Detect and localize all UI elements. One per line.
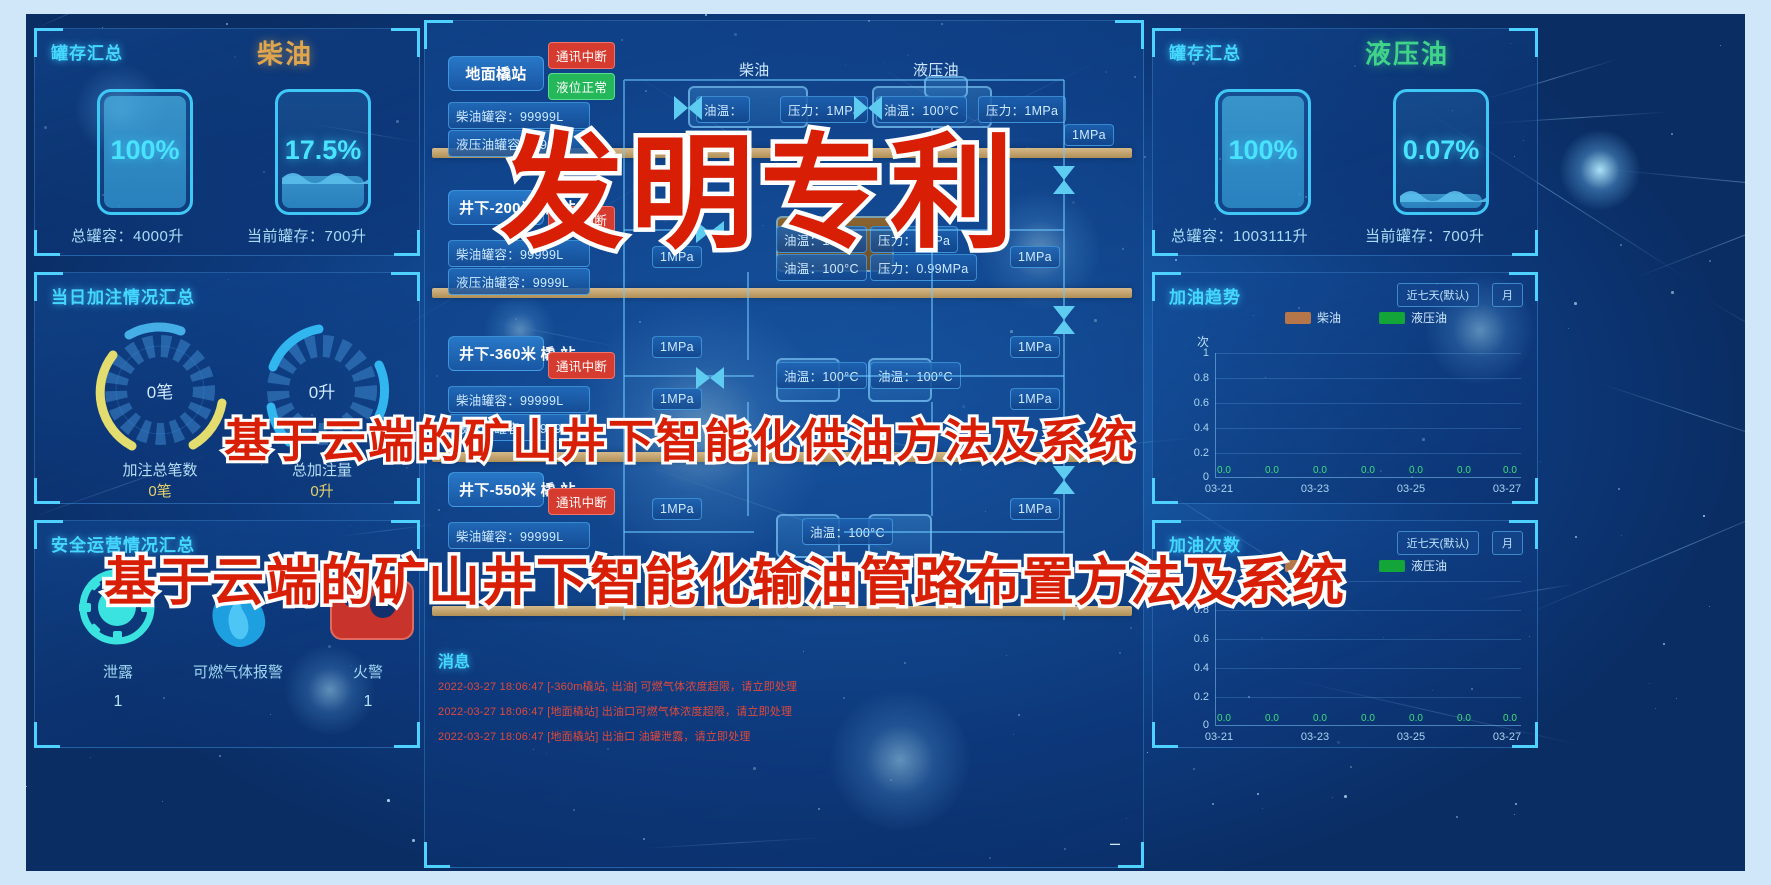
dashboard-screen: 罐存汇总 柴油 100% 17.5% 总罐容：4000升 当前罐存：700升 当… <box>0 0 1771 885</box>
range-button-week-count[interactable]: 近七天(默认) <box>1397 531 1479 555</box>
safety-label-2: 火警 <box>303 661 433 682</box>
chart-ytick-trend-5: 0 <box>1179 471 1209 483</box>
tank-pct-total-hydraulic: 100% <box>1218 135 1308 166</box>
chart-gridline-trend-0 <box>1215 353 1521 354</box>
watermark-line-1: 基于云端的矿山井下智能化供油方法及系统 <box>224 405 1136 471</box>
watermark-patent-title: 发明专利 <box>500 92 1020 272</box>
chart-gridline-trend-4 <box>1215 453 1521 454</box>
oil-type-label-hydraulic: 液压油 <box>1365 34 1449 71</box>
chart-xtick-count-0: 03-21 <box>1197 731 1241 743</box>
tank-current-stock-hydraulic: 当前罐存：700升 <box>1365 225 1485 246</box>
collapse-button[interactable]: – <box>1104 836 1126 854</box>
safety-value-0: 1 <box>53 693 183 711</box>
tank-pct-current-diesel: 17.5% <box>278 135 368 166</box>
chart-xtick-trend-0: 03-21 <box>1197 483 1241 495</box>
chart-datalabel-trend-2: 0.0 <box>1307 465 1333 476</box>
chart-xtick-trend-3: 03-27 <box>1485 483 1529 495</box>
chart-gridline-trend-3 <box>1215 428 1521 429</box>
legend-diesel-trend[interactable]: 柴油 <box>1285 309 1341 326</box>
chart-xaxis-trend <box>1215 477 1521 478</box>
gauge-refuel-count: 0笔 <box>85 315 235 465</box>
bezel-right <box>1745 0 1771 885</box>
chart-xaxis-count <box>1215 725 1521 726</box>
chart-ytick-trend-0: 1 <box>1179 347 1209 359</box>
gauge-refuel-volume-caption-number: 0升 <box>237 480 407 501</box>
panel-refuel-trend-chart: 加油趋势 近七天(默认) 月 柴油 液压油 次 1 0.8 0.6 0.4 0.… <box>1152 272 1538 504</box>
legend-label-hydraulic-trend: 液压油 <box>1411 311 1447 325</box>
tank-total-capacity-hydraulic: 总罐容：1003111升 <box>1171 225 1308 246</box>
bezel-top <box>0 0 1771 14</box>
gauge-refuel-count-value: 0笔 <box>85 378 235 403</box>
chart-ytick-trend-2: 0.6 <box>1179 397 1209 409</box>
bezel-left <box>0 0 26 885</box>
chart-datalabel-trend-1: 0.0 <box>1259 465 1285 476</box>
chart-gridline-count-2 <box>1215 639 1521 640</box>
chart-gridline-trend-2 <box>1215 403 1521 404</box>
chart-ytick-trend-3: 0.4 <box>1179 422 1209 434</box>
chart-yaxis-trend <box>1215 353 1216 477</box>
chart-datalabel-count-3: 0.0 <box>1355 713 1381 724</box>
chart-datalabel-count-6: 0.0 <box>1497 713 1523 724</box>
panel-title-hydraulic-summary: 罐存汇总 <box>1169 39 1241 64</box>
tank-gauge-current-diesel: 17.5% <box>275 89 371 215</box>
oil-type-label-diesel: 柴油 <box>257 34 313 71</box>
tank-total-capacity-diesel: 总罐容：4000升 <box>71 225 184 246</box>
bezel-bottom <box>0 871 1771 885</box>
range-button-week-trend[interactable]: 近七天(默认) <box>1397 283 1479 307</box>
gauge-refuel-count-caption: 加注总笔数 0笔 <box>75 459 245 501</box>
watermark-line-2: 基于云端的矿山井下智能化输油管路布置方法及系统 <box>104 540 1346 615</box>
chart-xtick-count-3: 03-27 <box>1485 731 1529 743</box>
chart-ytick-count-2: 0.6 <box>1179 633 1209 645</box>
legend-hydraulic-trend[interactable]: 液压油 <box>1379 309 1447 326</box>
legend-hydraulic-count[interactable]: 液压油 <box>1379 557 1447 574</box>
tank-gauge-total-hydraulic: 100% <box>1215 89 1311 215</box>
safety-label-1: 可燃气体报警 <box>173 661 303 682</box>
panel-diesel-tank-summary: 罐存汇总 柴油 100% 17.5% 总罐容：4000升 当前罐存：700升 <box>34 28 420 256</box>
tank-pct-current-hydraulic: 0.07% <box>1396 135 1486 166</box>
safety-value-2: 1 <box>303 693 433 711</box>
chart-datalabel-count-0: 0.0 <box>1211 713 1237 724</box>
tank-current-stock-diesel: 当前罐存：700升 <box>247 225 367 246</box>
gauge-refuel-count-caption-number: 0笔 <box>75 480 245 501</box>
panel-title-diesel-summary: 罐存汇总 <box>51 39 123 64</box>
chart-xtick-trend-1: 03-23 <box>1293 483 1337 495</box>
chart-datalabel-count-4: 0.0 <box>1403 713 1429 724</box>
tank-pct-total-diesel: 100% <box>100 135 190 166</box>
chart-gridline-count-4 <box>1215 697 1521 698</box>
chart-ytick-count-4: 0.2 <box>1179 691 1209 703</box>
chart-gridline-count-3 <box>1215 668 1521 669</box>
gauge-refuel-volume-value: 0升 <box>247 378 397 403</box>
message-log-line-1: 2022-03-27 18:06:47 [地面橇站] 出油口可燃气体浓度超限，请… <box>438 703 792 719</box>
message-log-line-2: 2022-03-27 18:06:47 [地面橇站] 出油口 油罐泄露，请立即处… <box>438 728 751 744</box>
panel-hydraulic-tank-summary: 罐存汇总 液压油 100% 0.07% 总罐容：1003111升 当前罐存：70… <box>1152 28 1538 256</box>
tank-wave-diesel <box>282 168 370 184</box>
message-log-panel: 消息 2022-03-27 18:06:47 [-360m橇站, 出油] 可燃气… <box>424 638 1144 868</box>
chart-datalabel-trend-6: 0.0 <box>1497 465 1523 476</box>
legend-label-hydraulic-count: 液压油 <box>1411 559 1447 573</box>
tank-gauge-current-hydraulic: 0.07% <box>1393 89 1489 215</box>
legend-label-diesel-trend: 柴油 <box>1317 311 1341 325</box>
safety-label-0: 泄露 <box>53 661 183 682</box>
chart-datalabel-trend-4: 0.0 <box>1403 465 1429 476</box>
range-button-month-trend[interactable]: 月 <box>1492 283 1523 307</box>
chart-datalabel-trend-3: 0.0 <box>1355 465 1381 476</box>
chart-gridline-trend-1 <box>1215 378 1521 379</box>
chart-datalabel-count-2: 0.0 <box>1307 713 1333 724</box>
chart-ytick-count-5: 0 <box>1179 719 1209 731</box>
chart-xtick-count-1: 03-23 <box>1293 731 1337 743</box>
message-log-title: 消息 <box>438 648 470 672</box>
chart-ytick-trend-1: 0.8 <box>1179 372 1209 384</box>
chart-datalabel-trend-5: 0.0 <box>1451 465 1477 476</box>
chart-ytick-trend-4: 0.2 <box>1179 447 1209 459</box>
chart-title-refuel-trend: 加油趋势 <box>1169 283 1241 308</box>
legend-swatch-hydraulic-trend <box>1379 312 1405 324</box>
message-log-line-0: 2022-03-27 18:06:47 [-360m橇站, 出油] 可燃气体浓度… <box>438 678 797 694</box>
chart-xtick-count-2: 03-25 <box>1389 731 1433 743</box>
tank-wave-hydraulic <box>1400 186 1488 202</box>
panel-title-daily-refuel: 当日加注情况汇总 <box>51 283 195 308</box>
range-button-month-count[interactable]: 月 <box>1492 531 1523 555</box>
chart-datalabel-count-1: 0.0 <box>1259 713 1285 724</box>
tank-gauge-total-diesel: 100% <box>97 89 193 215</box>
chart-xtick-trend-2: 03-25 <box>1389 483 1433 495</box>
legend-swatch-hydraulic-count <box>1379 560 1405 572</box>
gauge-refuel-count-caption-text: 加注总笔数 <box>122 462 197 479</box>
chart-datalabel-trend-0: 0.0 <box>1211 465 1237 476</box>
chart-datalabel-count-5: 0.0 <box>1451 713 1477 724</box>
chart-ytick-count-3: 0.4 <box>1179 662 1209 674</box>
legend-swatch-diesel-trend <box>1285 312 1311 324</box>
